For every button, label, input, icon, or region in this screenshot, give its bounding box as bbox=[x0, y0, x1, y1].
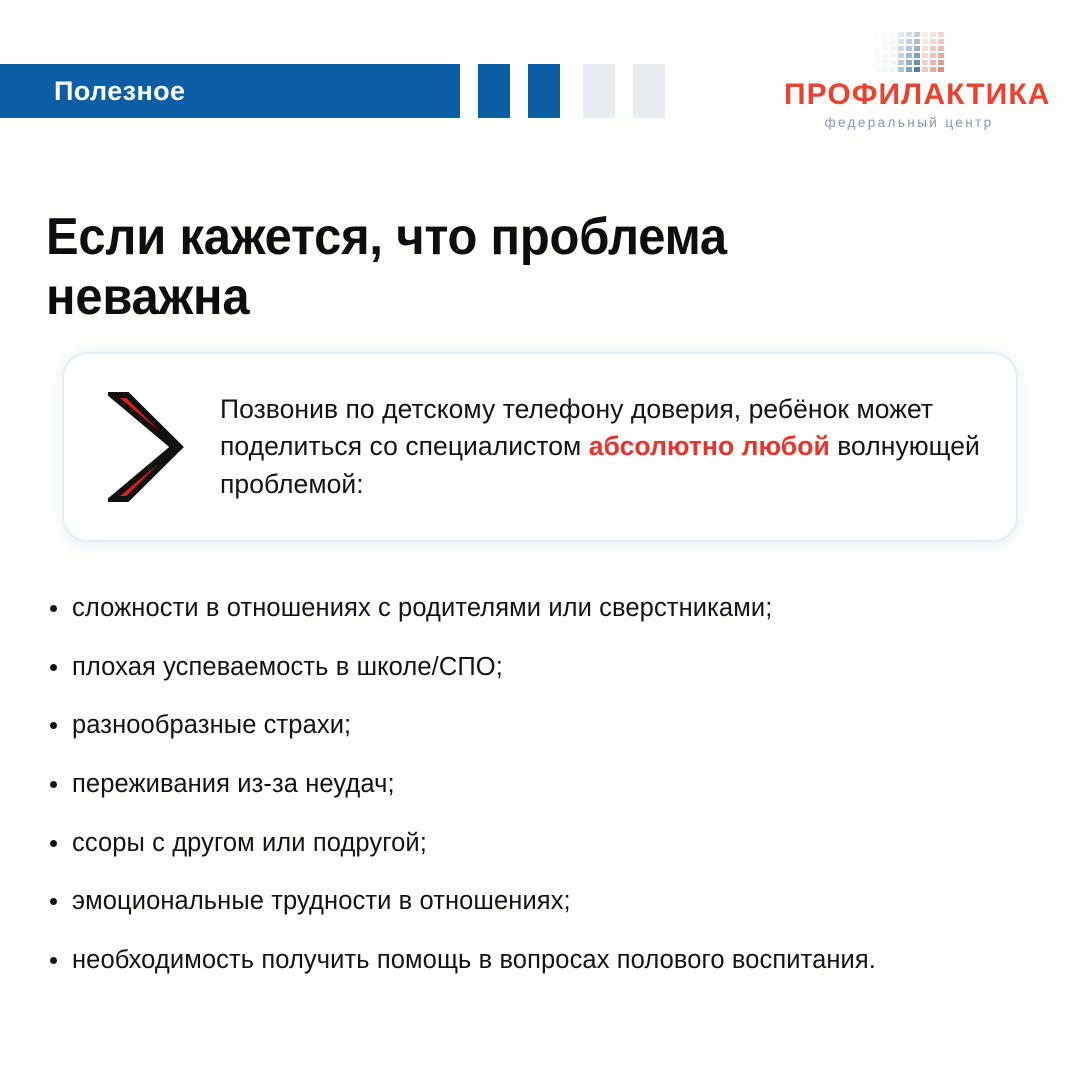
list-item: плохая успеваемость в школе/СПО; bbox=[46, 651, 1036, 685]
logo-grid-cell bbox=[938, 32, 944, 37]
logo-grid-cell bbox=[922, 67, 928, 72]
list-item: разнообразные страхи; bbox=[46, 709, 1036, 743]
bullet-dot-icon bbox=[50, 781, 57, 788]
logo-grid-cell bbox=[914, 39, 920, 44]
pixel-grid-logo-mark bbox=[784, 32, 1034, 72]
list-item: переживания из-за неудач; bbox=[46, 768, 1036, 802]
logo-grid-cell bbox=[930, 39, 936, 44]
logo-grid-cell bbox=[890, 32, 896, 37]
logo-grid-cell bbox=[898, 32, 904, 37]
logo-grid-cell bbox=[930, 67, 936, 72]
logo-grid-cell bbox=[922, 39, 928, 44]
logo-grid-cell bbox=[938, 46, 944, 51]
list-item-label: необходимость получить помощь в вопросах… bbox=[72, 946, 876, 974]
tick-grey-2 bbox=[633, 64, 665, 118]
logo-grid-cell bbox=[914, 46, 920, 51]
logo-grid-cell bbox=[930, 60, 936, 65]
list-item-label: ссоры с другом или подругой; bbox=[72, 829, 427, 857]
bullet-dot-icon bbox=[50, 605, 57, 612]
bullet-dot-icon bbox=[50, 664, 57, 671]
logo-grid-cell bbox=[882, 67, 888, 72]
logo-grid-cell bbox=[874, 67, 880, 72]
page-title: Если кажется, что проблема неважна bbox=[46, 207, 939, 328]
logo-grid-cell bbox=[874, 53, 880, 58]
logo-grid-cell bbox=[906, 53, 912, 58]
tick-blue-2 bbox=[528, 64, 560, 118]
logo-grid-cell bbox=[898, 53, 904, 58]
list-item: сложности в отношениях с родителями или … bbox=[46, 592, 1036, 626]
page-title-line-2: неважна bbox=[46, 268, 249, 326]
bullet-dot-icon bbox=[50, 840, 57, 847]
logo-grid-cell bbox=[874, 39, 880, 44]
logo-grid-cell bbox=[914, 67, 920, 72]
tick-grey-1 bbox=[583, 64, 615, 118]
callout-box: Позвонив по детскому телефону доверия, р… bbox=[62, 352, 1018, 542]
callout-text: Позвонив по детскому телефону доверия, р… bbox=[220, 391, 1016, 504]
logo-grid-cell bbox=[898, 67, 904, 72]
brand-logo: ПРОФИЛАКТИКА федеральный центр bbox=[784, 32, 1034, 130]
red-chevron-right-icon bbox=[108, 391, 184, 503]
category-ribbon: Полезное bbox=[0, 64, 460, 118]
category-ribbon-label: Полезное bbox=[54, 78, 185, 105]
logo-grid-cell bbox=[938, 60, 944, 65]
logo-grid-cell bbox=[874, 32, 880, 37]
logo-grid-cell bbox=[906, 32, 912, 37]
logo-grid-cell bbox=[930, 53, 936, 58]
bullet-dot-icon bbox=[50, 898, 57, 905]
logo-grid-cell bbox=[938, 39, 944, 44]
list-item: необходимость получить помощь в вопросах… bbox=[46, 944, 1036, 978]
logo-grid-cell bbox=[906, 39, 912, 44]
callout-text-accent: абсолютно любой bbox=[589, 431, 830, 461]
logo-grid-cell bbox=[874, 60, 880, 65]
logo-grid-cell bbox=[914, 60, 920, 65]
logo-grid-cell bbox=[922, 32, 928, 37]
bullet-dot-icon bbox=[50, 957, 57, 964]
logo-grid-cell bbox=[890, 60, 896, 65]
logo-grid-cell bbox=[906, 67, 912, 72]
logo-grid-cell bbox=[882, 53, 888, 58]
list-item: ссоры с другом или подругой; bbox=[46, 827, 1036, 861]
logo-grid-cell bbox=[898, 46, 904, 51]
logo-grid-cell bbox=[930, 32, 936, 37]
logo-grid-cell bbox=[938, 53, 944, 58]
logo-grid-cell bbox=[890, 53, 896, 58]
infographic-page: Полезное ПРОФИЛАКТИКА федеральный центр … bbox=[0, 0, 1080, 1080]
logo-grid-cell bbox=[882, 32, 888, 37]
logo-grid-cell bbox=[938, 67, 944, 72]
logo-grid-cell bbox=[906, 46, 912, 51]
logo-grid-cell bbox=[922, 53, 928, 58]
logo-grid-cell bbox=[898, 60, 904, 65]
logo-grid-cell bbox=[914, 32, 920, 37]
list-item: эмоциональные трудности в отношениях; bbox=[46, 885, 1036, 919]
logo-grid-cell bbox=[898, 39, 904, 44]
brand-name: ПРОФИЛАКТИКА bbox=[784, 80, 1034, 110]
logo-grid-cell bbox=[882, 39, 888, 44]
logo-grid-cell bbox=[922, 46, 928, 51]
list-item-label: эмоциональные трудности в отношениях; bbox=[72, 887, 571, 915]
logo-grid-cell bbox=[890, 46, 896, 51]
logo-grid-cell bbox=[906, 60, 912, 65]
logo-grid-cell bbox=[914, 53, 920, 58]
tick-blue-1 bbox=[478, 64, 510, 118]
list-item-label: разнообразные страхи; bbox=[72, 711, 351, 739]
logo-grid-cell bbox=[890, 67, 896, 72]
logo-grid-cell bbox=[882, 60, 888, 65]
logo-grid-cell bbox=[882, 46, 888, 51]
list-item-label: переживания из-за неудач; bbox=[72, 770, 395, 798]
list-item-label: плохая успеваемость в школе/СПО; bbox=[72, 653, 503, 681]
problem-list: сложности в отношениях с родителями или … bbox=[46, 592, 1036, 978]
list-item-label: сложности в отношениях с родителями или … bbox=[72, 594, 772, 622]
logo-grid-cell bbox=[930, 46, 936, 51]
logo-grid-cell bbox=[922, 60, 928, 65]
bullet-dot-icon bbox=[50, 722, 57, 729]
page-title-line-1: Если кажется, что проблема bbox=[46, 208, 727, 266]
logo-grid-cell bbox=[874, 46, 880, 51]
header: Полезное ПРОФИЛАКТИКА федеральный центр bbox=[0, 0, 1080, 160]
logo-grid-cell bbox=[890, 39, 896, 44]
brand-subtitle: федеральный центр bbox=[784, 116, 1034, 130]
